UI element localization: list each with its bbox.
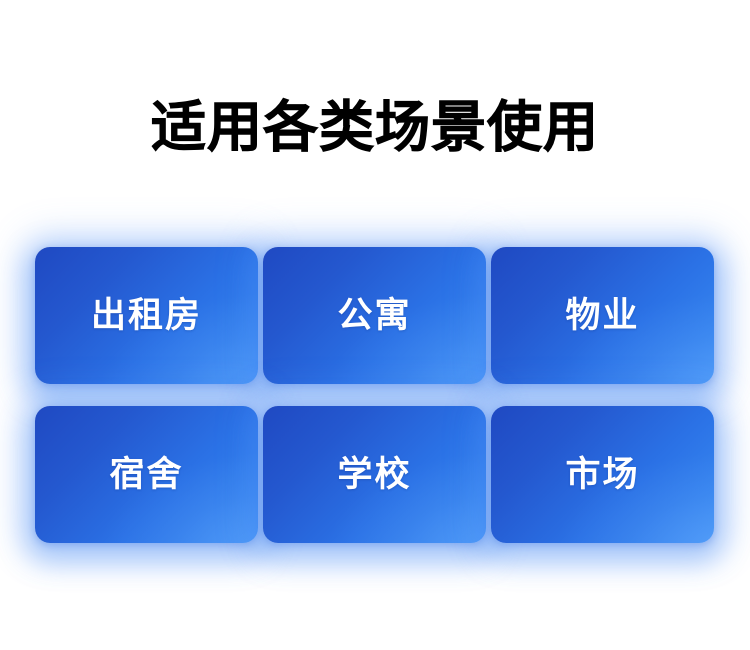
scene-card-apartment[interactable]: 公寓 — [263, 247, 486, 384]
scene-card-rental-room[interactable]: 出租房 — [35, 247, 258, 384]
scene-card-label: 出租房 — [91, 294, 202, 338]
scene-card-market[interactable]: 市场 — [491, 406, 714, 543]
scene-card-property-management[interactable]: 物业 — [491, 247, 714, 384]
scene-showcase-page: 适用各类场景使用 出租房 公寓 物业 宿舍 学校 市场 — [0, 0, 750, 650]
scene-card-label: 学校 — [337, 453, 411, 497]
scene-card-label: 公寓 — [337, 294, 411, 338]
page-title: 适用各类场景使用 — [0, 92, 750, 162]
scene-card-label: 物业 — [565, 294, 639, 338]
scene-card-school[interactable]: 学校 — [263, 406, 486, 543]
scene-card-label: 宿舍 — [109, 453, 183, 497]
scene-card-grid: 出租房 公寓 物业 宿舍 学校 市场 — [35, 247, 715, 543]
scene-card-dormitory[interactable]: 宿舍 — [35, 406, 258, 543]
scene-card-label: 市场 — [565, 453, 639, 497]
